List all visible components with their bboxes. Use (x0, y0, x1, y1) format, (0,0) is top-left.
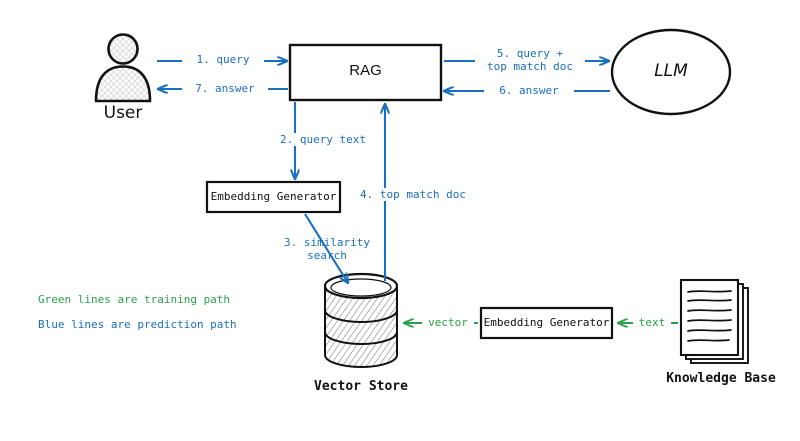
edge-label-query: 1. query (182, 53, 264, 66)
edge-label-answer-from-llm: 6. answer (484, 84, 574, 97)
legend-blue-line: Blue lines are prediction path (38, 318, 237, 331)
edge-label-answer-to-user: 7. answer (182, 82, 268, 95)
vector-store-label: Vector Store (296, 379, 426, 394)
knowledge-base-icon (681, 280, 748, 363)
edge-label-text: text (633, 316, 671, 329)
edge-label-query-plus-doc-line2: top match doc (475, 60, 585, 73)
knowledge-base-label: Knowledge Base (641, 371, 800, 386)
legend-green-line: Green lines are training path (38, 293, 230, 306)
edge-label-similarity-search-line1: 3. similarity (272, 236, 382, 249)
edge-label-similarity-search-line2: search (272, 249, 382, 262)
embedding-generator-ingest-label: Embedding Generator (481, 316, 612, 329)
edge-label-top-match-doc: 4. top match doc (345, 188, 481, 201)
edge-label-query-text: 2. query text (265, 133, 381, 146)
user-icon (96, 35, 150, 102)
edge-label-vector: vector (422, 316, 474, 329)
llm-label: LLM (636, 61, 706, 81)
rag-label: RAG (290, 62, 441, 79)
edge-label-query-plus-doc-line1: 5. query + (475, 47, 585, 60)
user-label: User (88, 103, 158, 123)
vector-store-icon (325, 274, 397, 367)
diagram-canvas: User RAG LLM Embedding Generator Embeddi… (0, 0, 800, 441)
embedding-generator-query-label: Embedding Generator (207, 190, 340, 203)
